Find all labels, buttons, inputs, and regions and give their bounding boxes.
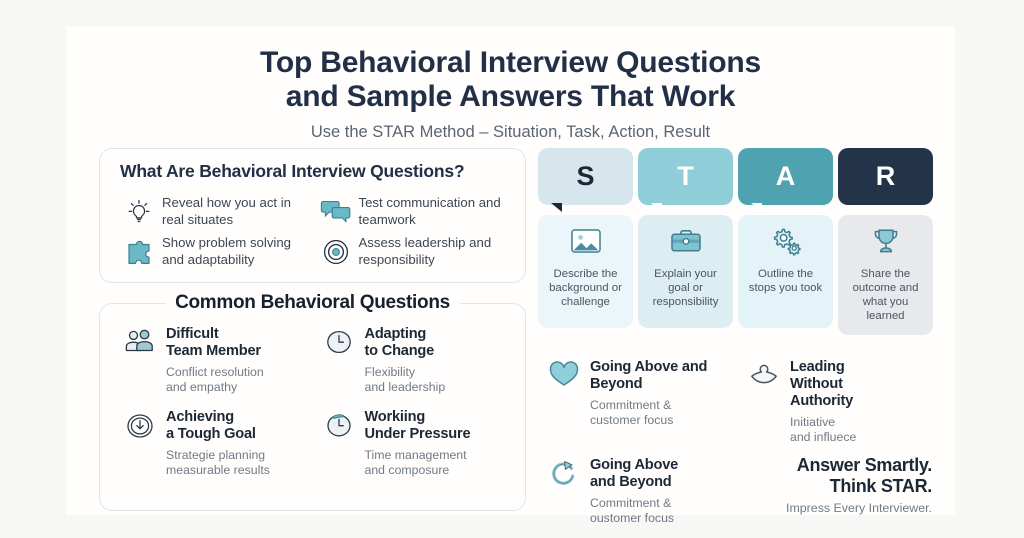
question-item: Workiing Under Pressure Time management … xyxy=(313,409,512,478)
star-detail-panel: Explain your goal or responsibility xyxy=(638,215,733,328)
extra-title-line2: Without xyxy=(790,376,856,393)
benefit-grid: Reveal how you act in real situates Test… xyxy=(116,188,509,268)
star-letter: T xyxy=(677,161,694,192)
question-item: Achieving a Tough Goal Strategie plannin… xyxy=(114,409,313,478)
refresh-icon xyxy=(538,457,590,526)
star-letter: R xyxy=(876,161,896,192)
puzzle-piece-icon xyxy=(116,235,162,268)
extra-question-item: Leading Without Authority Initiative and… xyxy=(738,359,938,445)
extra-sub-line2: customer focus xyxy=(590,413,707,428)
benefit-text: Assess leadership and responsibility xyxy=(359,235,510,268)
infographic-canvas: Top Behavioral Interview Questions and S… xyxy=(66,26,955,515)
question-sub: Flexibility and leadership xyxy=(365,365,446,395)
target-icon xyxy=(313,235,359,268)
question-sub-line2: and composure xyxy=(365,463,471,478)
question-sub: Conflict resolution and empathy xyxy=(166,365,264,395)
question-title-line1: Adapting xyxy=(365,326,446,343)
star-letter-badge: T xyxy=(638,148,733,205)
question-item: Difficult Team Member Conflict resolutio… xyxy=(114,326,313,395)
star-letter-badge: A xyxy=(738,148,833,205)
extra-sub-line2: and influece xyxy=(790,430,856,445)
star-detail-panel: Outline the stops you took xyxy=(738,215,833,328)
star-letter-badge: S xyxy=(538,148,633,205)
page-title: Top Behavioral Interview Questions and S… xyxy=(66,46,955,114)
benefit-item: Assess leadership and responsibility xyxy=(313,235,510,268)
briefcase-icon xyxy=(668,226,704,256)
question-sub-line2: and empathy xyxy=(166,380,264,395)
question-sub-line2: measurable results xyxy=(166,463,270,478)
question-title-line1: Difficult xyxy=(166,326,264,343)
extra-question-item: Going Above and Beyond Commitment & cust… xyxy=(538,359,738,445)
star-caption: Share the outcome and what you learned xyxy=(844,267,927,323)
star-letter: S xyxy=(576,161,594,192)
card-heading: What Are Behavioral Interview Questions? xyxy=(120,161,509,182)
question-title: Achieving a Tough Goal xyxy=(166,409,270,443)
badge-tail xyxy=(651,203,662,212)
star-caption: Outline the stops you took xyxy=(744,267,827,295)
question-title-line1: Workiing xyxy=(365,409,471,426)
benefit-item: Test communication and teamwork xyxy=(313,195,510,228)
question-title-line1: Achieving xyxy=(166,409,270,426)
extra-title-line1: Going Above xyxy=(590,457,678,474)
question-sub-line2: and leadership xyxy=(365,380,446,395)
tagline-sub: Impress Every Interviewer. xyxy=(738,501,932,515)
question-title-line2: to Change xyxy=(365,343,446,360)
extra-question-item: Going Above and Beyond Commitment & oust… xyxy=(538,457,738,526)
tagline-cell: Answer Smartly. Think STAR. Impress Ever… xyxy=(738,457,938,526)
right-column: S Describe the background or challenge xyxy=(538,148,938,538)
left-column: What Are Behavioral Interview Questions? xyxy=(99,148,526,511)
star-caption: Explain your goal or responsibility xyxy=(644,267,727,309)
badge-tail xyxy=(751,203,762,212)
star-letter-badge: R xyxy=(838,148,933,205)
star-column-s: S Describe the background or challenge xyxy=(538,148,633,335)
heart-icon xyxy=(538,359,590,445)
extra-sub-line1: Initiative xyxy=(790,415,856,430)
question-title: Workiing Under Pressure xyxy=(365,409,471,443)
star-letter: A xyxy=(776,161,796,192)
star-column-r: R Share the outcome and what you learned xyxy=(838,148,933,335)
extra-question-title: Going Above and Beyond xyxy=(590,359,707,393)
star-column-a: A Outline the stops you took xyxy=(738,148,833,335)
question-sub-line1: Strategie planning xyxy=(166,448,270,463)
benefit-text: Reveal how you act in real situates xyxy=(162,195,313,228)
handshake-icon xyxy=(738,359,790,445)
badge-tail xyxy=(551,203,562,212)
title-line-2: and Sample Answers That Work xyxy=(66,80,955,114)
benefit-item: Show problem solving and adaptability xyxy=(116,235,313,268)
tagline-line1: Answer Smartly. xyxy=(738,455,932,476)
star-column-t: T Explain your goal or respon xyxy=(638,148,733,335)
question-title: Difficult Team Member xyxy=(166,326,264,360)
common-behavioral-questions-card: Common Behavioral Questions xyxy=(99,303,526,511)
gears-icon xyxy=(768,226,804,256)
tagline-line2: Think STAR. xyxy=(738,476,932,497)
people-icon xyxy=(114,326,166,395)
benefit-text: Show problem solving and adaptability xyxy=(162,235,313,268)
tagline-main: Answer Smartly. Think STAR. xyxy=(738,455,932,497)
question-sub-line1: Conflict resolution xyxy=(166,365,264,380)
extra-sub-line1: Commitment & xyxy=(590,398,707,413)
extra-title-line1: Going Above and xyxy=(590,359,707,376)
question-grid: Difficult Team Member Conflict resolutio… xyxy=(114,326,511,492)
speech-bubbles-icon xyxy=(313,195,359,228)
question-title-line2: Under Pressure xyxy=(365,426,471,443)
clock-pressure-icon xyxy=(313,409,365,478)
extra-sub-line2: oustomer focus xyxy=(590,511,678,526)
clock-icon xyxy=(313,326,365,395)
download-goal-icon xyxy=(114,409,166,478)
extra-questions-grid: Going Above and Beyond Commitment & cust… xyxy=(538,359,938,538)
extra-title-line2: Beyond xyxy=(590,376,707,393)
card-heading: Common Behavioral Questions xyxy=(165,292,460,314)
header: Top Behavioral Interview Questions and S… xyxy=(66,26,955,142)
extra-question-sub: Commitment & oustomer focus xyxy=(590,496,678,526)
extra-sub-line1: Commitment & xyxy=(590,496,678,511)
question-sub-line1: Time management xyxy=(365,448,471,463)
star-detail-panel: Share the outcome and what you learned xyxy=(838,215,933,335)
question-sub: Strategie planning measurable results xyxy=(166,448,270,478)
extra-title-line2: and Beyond xyxy=(590,474,678,491)
benefit-text: Test communication and teamwork xyxy=(359,195,510,228)
image-icon xyxy=(568,226,604,256)
star-caption: Describe the background or challenge xyxy=(544,267,627,309)
extra-question-title: Going Above and Beyond xyxy=(590,457,678,491)
question-title-line2: Team Member xyxy=(166,343,264,360)
extra-question-sub: Initiative and influece xyxy=(790,415,856,445)
question-item: Adapting to Change Flexibility and leade… xyxy=(313,326,512,395)
question-title: Adapting to Change xyxy=(365,326,446,360)
page-subtitle: Use the STAR Method – Situation, Task, A… xyxy=(66,123,955,142)
extra-question-sub: Commitment & customer focus xyxy=(590,398,707,428)
question-sub: Time management and composure xyxy=(365,448,471,478)
title-line-1: Top Behavioral Interview Questions xyxy=(66,46,955,80)
extra-title-line3: Authority xyxy=(790,393,856,410)
question-sub-line1: Flexibility xyxy=(365,365,446,380)
extra-question-title: Leading Without Authority xyxy=(790,359,856,410)
lightbulb-icon xyxy=(116,195,162,228)
trophy-icon xyxy=(869,226,903,256)
what-are-behavioral-questions-card: What Are Behavioral Interview Questions? xyxy=(99,148,526,283)
question-title-line2: a Tough Goal xyxy=(166,426,270,443)
benefit-item: Reveal how you act in real situates xyxy=(116,195,313,228)
star-detail-panel: Describe the background or challenge xyxy=(538,215,633,328)
star-method-row: S Describe the background or challenge xyxy=(538,148,938,335)
extra-title-line1: Leading xyxy=(790,359,856,376)
